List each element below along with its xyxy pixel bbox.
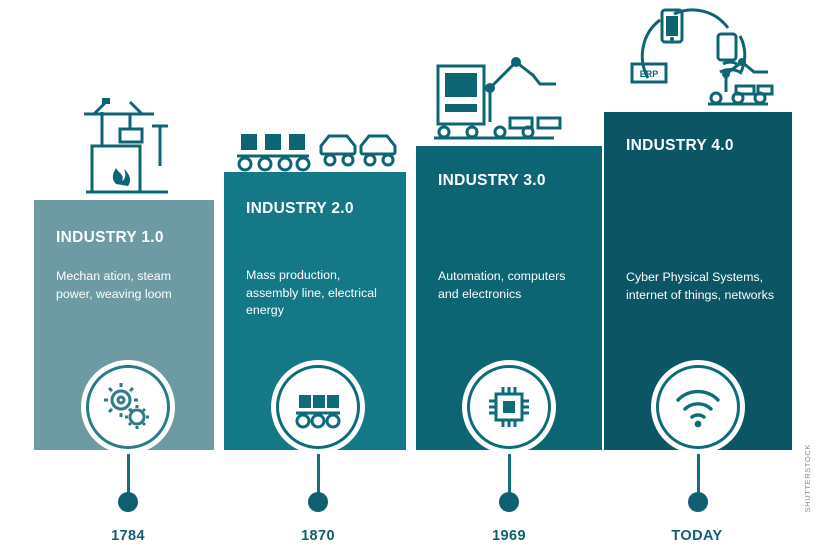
stage-description-industry-1: Mechan ation, steam power, weaving loom (56, 268, 198, 303)
stage-dot-industry-2 (308, 492, 328, 512)
stage-dot-industry-4 (688, 492, 708, 512)
stage-dot-industry-1 (118, 492, 138, 512)
erp-label: ERP (640, 69, 659, 79)
conveyor-belt-icon (292, 381, 344, 433)
stage-year-industry-3: 1969 (449, 528, 569, 544)
stage-title-industry-1: INDUSTRY 1.0 (56, 229, 200, 246)
stage-badge-industry-2 (271, 360, 365, 454)
stage-dot-industry-3 (499, 492, 519, 512)
stage-stem-industry-3 (508, 454, 511, 496)
stage-title-industry-2: INDUSTRY 2.0 (246, 200, 392, 217)
stage-badge-industry-1 (81, 360, 175, 454)
stage-description-industry-4: Cyber Physical Systems, internet of thin… (626, 269, 776, 304)
steam-engine-icon (72, 96, 182, 204)
stage-badge-industry-4 (651, 360, 745, 454)
stage-year-industry-2: 1870 (258, 528, 378, 544)
wifi-icon (672, 381, 724, 433)
stage-badge-industry-3 (462, 360, 556, 454)
microchip-icon (484, 382, 534, 432)
gears-icon (102, 381, 154, 433)
assembly-line-cars-icon (231, 120, 401, 174)
stage-year-industry-1: 1784 (68, 528, 188, 544)
stage-title-industry-3: INDUSTRY 3.0 (438, 172, 588, 189)
watermark-label: SHUTTERSTOCK (803, 444, 812, 512)
robot-arm-computer-icon (432, 44, 582, 146)
stage-stem-industry-1 (127, 454, 130, 496)
stage-description-industry-3: Automation, computers and electronics (438, 268, 586, 303)
stage-title-industry-4: INDUSTRY 4.0 (626, 137, 778, 154)
stage-stem-industry-4 (697, 454, 700, 496)
stage-description-industry-2: Mass production, assembly line, electric… (246, 267, 390, 320)
stage-year-industry-4: TODAY (637, 528, 757, 544)
infographic-canvas: INDUSTRY 1.0 Mechan ation, steam power, … (0, 0, 815, 560)
stage-stem-industry-2 (317, 454, 320, 496)
iot-cloud-erp-icon: ERP (622, 6, 774, 112)
